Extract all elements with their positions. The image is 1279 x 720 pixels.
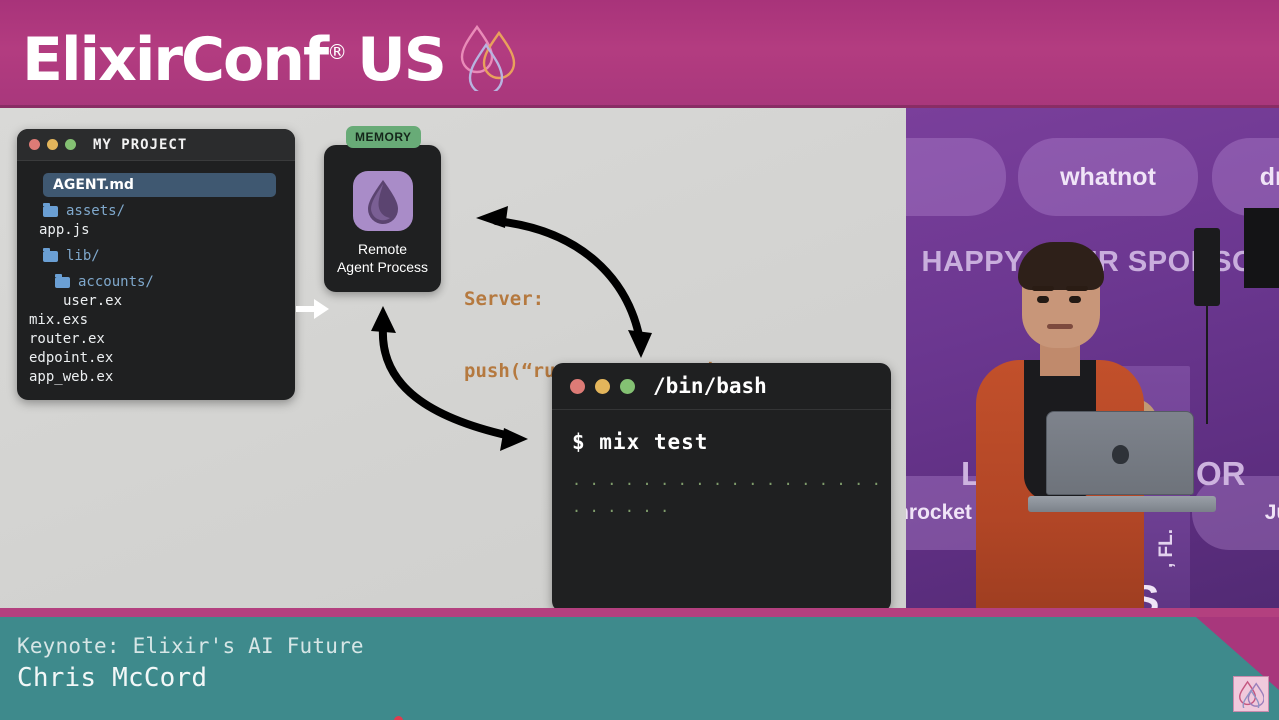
file-item-edpoint-ex[interactable]: edpoint.ex [29,349,283,368]
file-label: router.ex [29,330,105,348]
close-button-icon[interactable] [29,139,40,150]
maximize-button-icon[interactable] [65,139,76,150]
elixir-drops-badge-icon [1233,676,1269,712]
file-label: mix.exs [29,311,88,329]
minimize-button-icon[interactable] [595,379,610,394]
talk-title: Keynote: Elixir's AI Future [17,631,364,661]
file-label: accounts/ [78,273,154,291]
terminal-command: $ mix test [572,430,871,454]
sponsor-pill-dns: dns [1212,138,1279,216]
region-label: US [357,25,445,95]
memory-badge: MEMORY [346,126,421,148]
microphone [1194,228,1220,306]
file-label: lib/ [66,247,100,265]
recording-indicator [394,716,403,720]
backdrop-word-fl: , FL. [1156,529,1178,568]
speaker-mouth [1047,324,1073,329]
file-label: user.ex [63,292,122,310]
file-item-router-ex[interactable]: router.ex [29,330,283,349]
sponsor-whatnot-label: whatnot [1060,163,1156,192]
elixir-droplet-icon [353,171,413,231]
file-label: edpoint.ex [29,349,113,367]
speaker-name: Chris McCord [17,661,364,695]
terminal-title: /bin/bash [653,374,767,398]
file-label: app_web.ex [29,368,113,386]
terminal-window[interactable]: /bin/bash $ mix test ...................… [552,363,891,612]
banner-wordmark: ElixirConf®US [22,10,445,102]
agent-card-label: Remote Agent Process [337,240,428,276]
test-progress-line-2: ...... [572,498,871,516]
file-item-lib[interactable]: lib/ [43,247,283,266]
conference-banner: ElixirConf®US [0,0,1279,108]
folder-icon [43,251,58,262]
speaker-brow-left [1032,286,1054,291]
server-label: Server: [464,287,853,311]
slide-canvas: MY PROJECT AGENT.md assets/ app.js lib/ [0,108,906,617]
terminal-titlebar: /bin/bash [552,363,891,410]
laptop-base [1028,496,1216,512]
screen: ElixirConf®US MY PROJECT AGENT.md [0,0,1279,720]
speaker-eye-right [1069,296,1081,303]
file-item-mix-exs[interactable]: mix.exs [29,311,283,330]
project-window-titlebar: MY PROJECT [17,129,295,161]
sponsor-pill-whatnot: whatnot [1018,138,1198,216]
white-right-arrow-icon [296,298,330,325]
sponsor-dns-label: dns [1260,163,1279,192]
backdrop-word-or: OR [1196,455,1246,493]
project-window-title: MY PROJECT [93,137,187,153]
registered-mark: ® [327,40,347,64]
lower-third-text: Keynote: Elixir's AI Future Chris McCord [17,631,364,695]
file-label: app.js [39,221,90,239]
minimize-button-icon[interactable] [47,139,58,150]
file-tree: AGENT.md assets/ app.js lib/ accounts/ [17,161,295,395]
file-item-assets[interactable]: assets/ [43,202,283,221]
file-item-accounts[interactable]: accounts/ [55,273,283,292]
project-file-tree-window[interactable]: MY PROJECT AGENT.md assets/ app.js lib/ [17,129,295,400]
agent-label-line1: Remote [337,240,428,258]
file-label: assets/ [66,202,125,220]
maximize-button-icon[interactable] [620,379,635,394]
spacer [29,240,283,247]
agent-label-line2: Agent Process [337,258,428,276]
file-item-app-web-ex[interactable]: app_web.ex [29,368,283,387]
elixir-drops-logo-icon [453,19,519,96]
brand-name: ElixirConf [22,25,327,95]
lower-third-accent-bar [0,608,1279,617]
file-item-user-ex[interactable]: user.ex [63,292,283,311]
speaker-hair [1018,242,1104,290]
terminal-output[interactable]: $ mix test ....................... .....… [552,410,891,516]
sponsor-rocket-label: hrocket [906,501,972,525]
microphone-cord [1206,304,1208,424]
stage-monitor [1244,208,1279,288]
speaker-brow-right [1066,286,1088,291]
file-item-app-js[interactable]: app.js [39,221,283,240]
spacer [29,266,283,273]
test-progress-line-1: ....................... [572,471,871,489]
folder-icon [55,277,70,288]
lower-third: Keynote: Elixir's AI Future Chris McCord [0,617,1279,720]
speaker-video-feed: ng tions whatnot dns HAPPY HOUR SPONSOR … [906,108,1279,617]
sponsor-ju-label: Ju [1265,501,1279,525]
speaker-eye-left [1037,296,1049,303]
banner-logo: ElixirConf®US [22,10,519,102]
remote-agent-process-card[interactable]: MEMORY Remote Agent Process [324,145,441,292]
apple-logo-icon [1112,445,1129,464]
file-item-agent-md[interactable]: AGENT.md [43,173,276,197]
close-button-icon[interactable] [570,379,585,394]
folder-icon [43,206,58,217]
